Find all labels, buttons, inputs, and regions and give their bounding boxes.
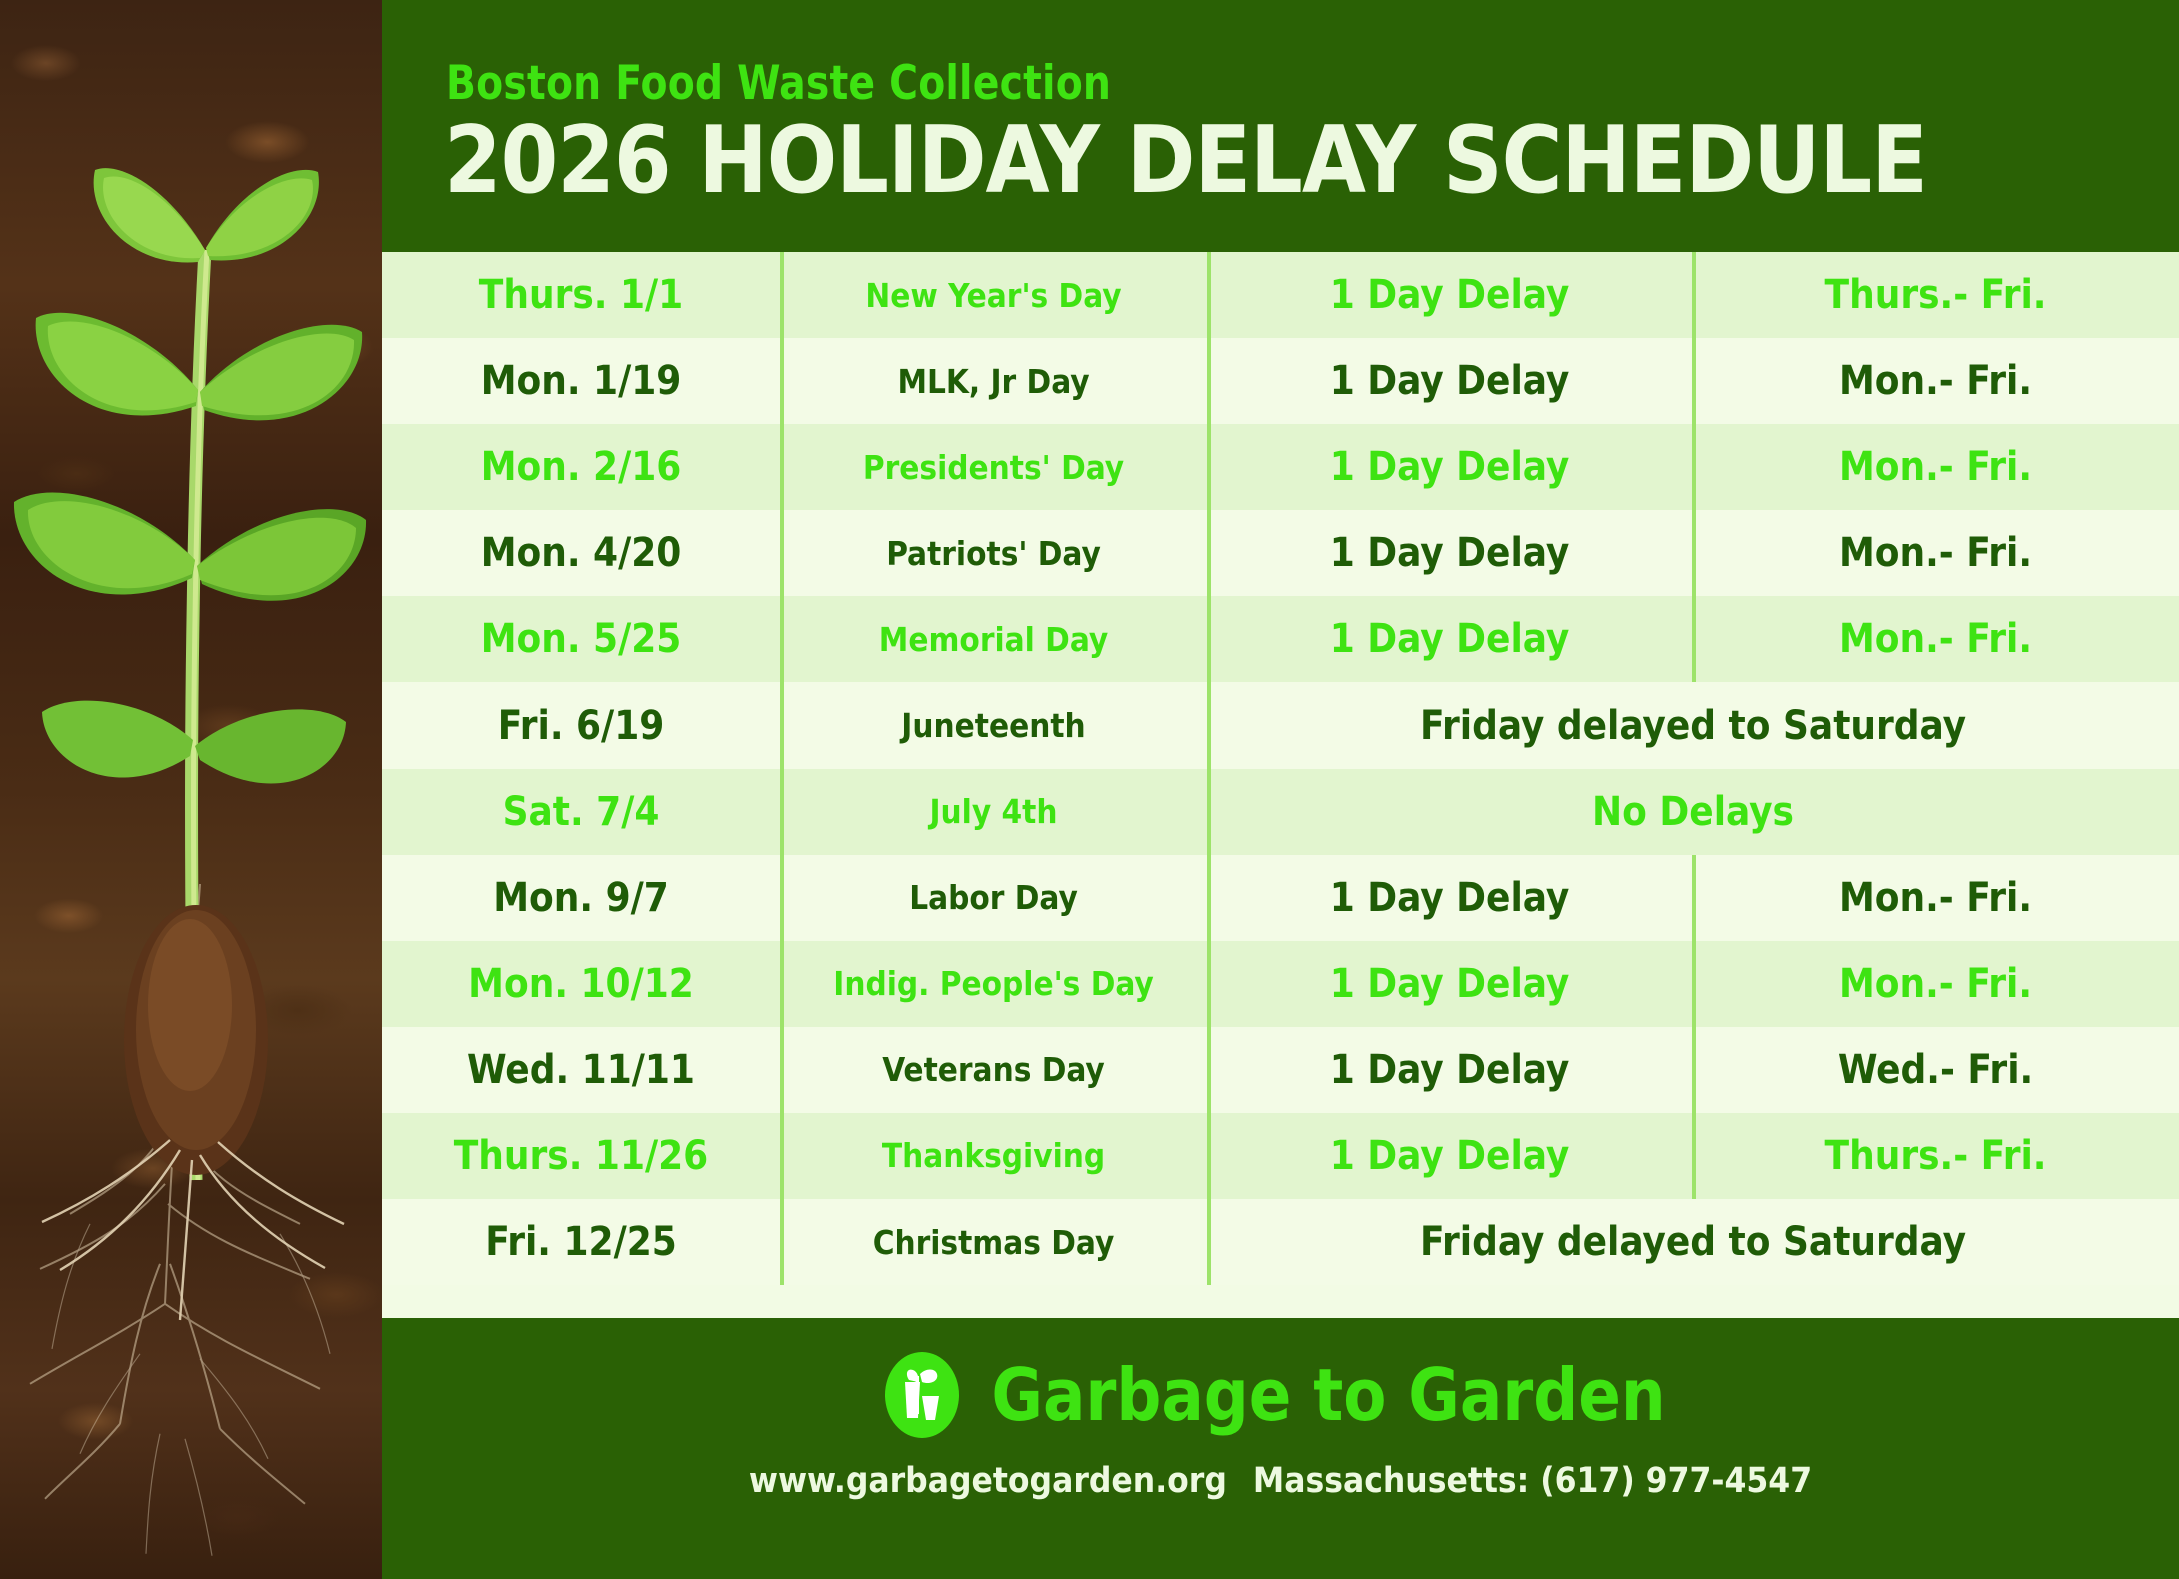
column-divider	[1692, 1027, 1696, 1113]
cell-date: Mon. 10/12	[382, 941, 780, 1027]
cell-date: Mon. 1/19	[382, 338, 780, 424]
column-divider	[1207, 769, 1211, 855]
table-row: Mon. 10/12Indig. People's Day1 Day Delay…	[382, 941, 2179, 1027]
column-divider	[1207, 338, 1211, 424]
cell-holiday: Labor Day	[780, 855, 1207, 941]
cell-holiday: New Year's Day	[780, 252, 1207, 338]
cell-days: Mon.- Fri.	[1692, 855, 2179, 941]
column-divider	[1692, 596, 1696, 682]
cell-date: Mon. 4/20	[382, 510, 780, 596]
column-divider	[1692, 855, 1696, 941]
cell-holiday: Indig. People's Day	[780, 941, 1207, 1027]
cell-holiday: MLK, Jr Day	[780, 338, 1207, 424]
brand-name: Garbage to Garden	[991, 1353, 1665, 1437]
cell-date: Fri. 6/19	[382, 682, 780, 768]
cell-date: Fri. 12/25	[382, 1199, 780, 1285]
column-divider	[780, 769, 784, 855]
table-row: Sat. 7/4July 4thNo Delays	[382, 769, 2179, 855]
table-row: Mon. 1/19MLK, Jr Day1 Day DelayMon.- Fri…	[382, 338, 2179, 424]
website-link[interactable]: www.garbagetogarden.org	[749, 1461, 1227, 1501]
cell-date: Mon. 5/25	[382, 596, 780, 682]
column-divider	[780, 252, 784, 338]
cell-holiday: Thanksgiving	[780, 1113, 1207, 1199]
column-divider	[1692, 510, 1696, 596]
cell-date: Thurs. 11/26	[382, 1113, 780, 1199]
cell-delay: 1 Day Delay	[1207, 855, 1692, 941]
poster-header: Boston Food Waste Collection 2026 HOLIDA…	[382, 0, 2179, 252]
column-divider	[1692, 338, 1696, 424]
cell-delay: 1 Day Delay	[1207, 424, 1692, 510]
cell-days: Wed.- Fri.	[1692, 1027, 2179, 1113]
cell-date: Mon. 9/7	[382, 855, 780, 941]
cell-holiday: July 4th	[780, 769, 1207, 855]
cell-date: Mon. 2/16	[382, 424, 780, 510]
cell-delay: 1 Day Delay	[1207, 596, 1692, 682]
cell-holiday: Christmas Day	[780, 1199, 1207, 1285]
table-row: Mon. 9/7Labor Day1 Day DelayMon.- Fri.	[382, 855, 2179, 941]
column-divider	[1207, 596, 1211, 682]
column-divider	[780, 941, 784, 1027]
phone-label: Massachusetts: (617) 977-4547	[1253, 1461, 1812, 1501]
brand-lockup: Garbage to Garden	[382, 1352, 2179, 1438]
poster-footer: Garbage to Garden www.garbagetogarden.or…	[382, 1318, 2179, 1579]
cell-holiday: Juneteenth	[780, 682, 1207, 768]
header-kicker: Boston Food Waste Collection	[446, 56, 1111, 111]
column-divider	[1207, 1199, 1211, 1285]
cell-delay-merged: Friday delayed to Saturday	[1207, 1199, 2179, 1285]
column-divider	[1692, 424, 1696, 510]
cell-days: Mon.- Fri.	[1692, 424, 2179, 510]
column-divider	[1207, 682, 1211, 768]
column-divider	[780, 1199, 784, 1285]
column-divider	[1692, 252, 1696, 338]
cell-delay: 1 Day Delay	[1207, 941, 1692, 1027]
column-divider	[1207, 855, 1211, 941]
cell-holiday: Presidents' Day	[780, 424, 1207, 510]
column-divider	[780, 424, 784, 510]
table-row: Mon. 5/25Memorial Day1 Day DelayMon.- Fr…	[382, 596, 2179, 682]
table-row: Wed. 11/11Veterans Day1 Day DelayWed.- F…	[382, 1027, 2179, 1113]
table-row: Mon. 2/16Presidents' Day1 Day DelayMon.-…	[382, 424, 2179, 510]
column-divider	[1207, 1027, 1211, 1113]
column-divider	[1207, 424, 1211, 510]
cell-date: Thurs. 1/1	[382, 252, 780, 338]
column-divider	[1692, 941, 1696, 1027]
seedling-soil-photo	[0, 0, 382, 1579]
footer-contact: www.garbagetogarden.orgMassachusetts: (6…	[382, 1461, 2179, 1501]
cell-days: Mon.- Fri.	[1692, 596, 2179, 682]
cell-delay: 1 Day Delay	[1207, 1113, 1692, 1199]
table-row: Mon. 4/20Patriots' Day1 Day DelayMon.- F…	[382, 510, 2179, 596]
plant-in-bag-icon	[885, 1352, 959, 1438]
cell-delay: 1 Day Delay	[1207, 1027, 1692, 1113]
seedling-graphic	[0, 0, 382, 1579]
page-title: 2026 HOLIDAY DELAY SCHEDULE	[444, 106, 1927, 214]
cell-date: Wed. 11/11	[382, 1027, 780, 1113]
column-divider	[780, 510, 784, 596]
cell-delay-merged: Friday delayed to Saturday	[1207, 682, 2179, 768]
table-row: Thurs. 1/1New Year's Day1 Day DelayThurs…	[382, 252, 2179, 338]
column-divider	[1207, 510, 1211, 596]
cell-days: Mon.- Fri.	[1692, 510, 2179, 596]
holiday-schedule-table: Thurs. 1/1New Year's Day1 Day DelayThurs…	[382, 252, 2179, 1318]
cell-delay: 1 Day Delay	[1207, 510, 1692, 596]
cell-holiday: Memorial Day	[780, 596, 1207, 682]
cell-date: Sat. 7/4	[382, 769, 780, 855]
cell-days: Thurs.- Fri.	[1692, 1113, 2179, 1199]
column-divider	[1692, 1113, 1696, 1199]
cell-delay-merged: No Delays	[1207, 769, 2179, 855]
cell-holiday: Veterans Day	[780, 1027, 1207, 1113]
column-divider	[780, 682, 784, 768]
column-divider	[780, 1027, 784, 1113]
cell-delay: 1 Day Delay	[1207, 338, 1692, 424]
table-row: Fri. 6/19JuneteenthFriday delayed to Sat…	[382, 682, 2179, 768]
cell-delay: 1 Day Delay	[1207, 252, 1692, 338]
column-divider	[1207, 252, 1211, 338]
table-row: Fri. 12/25Christmas DayFriday delayed to…	[382, 1199, 2179, 1285]
cell-days: Thurs.- Fri.	[1692, 252, 2179, 338]
column-divider	[1207, 1113, 1211, 1199]
cell-days: Mon.- Fri.	[1692, 338, 2179, 424]
column-divider	[780, 855, 784, 941]
column-divider	[780, 1113, 784, 1199]
cell-days: Mon.- Fri.	[1692, 941, 2179, 1027]
column-divider	[780, 596, 784, 682]
holiday-schedule-poster: Boston Food Waste Collection 2026 HOLIDA…	[0, 0, 2179, 1579]
column-divider	[1207, 941, 1211, 1027]
cell-holiday: Patriots' Day	[780, 510, 1207, 596]
table-row: Thurs. 11/26Thanksgiving1 Day DelayThurs…	[382, 1113, 2179, 1199]
column-divider	[780, 338, 784, 424]
